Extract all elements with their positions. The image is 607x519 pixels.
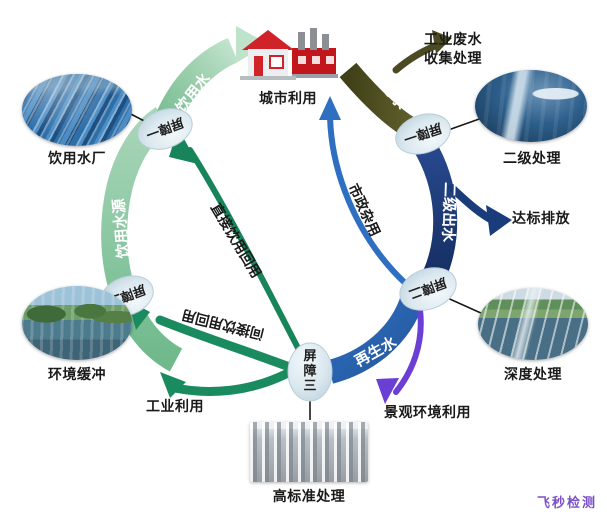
node-barrier-3-bottom[interactable]: 屏 障 三 — [288, 343, 332, 401]
caption-industrial-use: 工业利用 — [128, 398, 222, 415]
caption-landscape-environment-use: 景观环境利用 — [384, 404, 500, 421]
watermark: 飞秒检测 — [537, 492, 597, 511]
caption-city-use: 城市利用 — [238, 90, 338, 107]
photo-drinking-water-plant — [22, 74, 132, 146]
caption-industrial-wastewater-line1: 工业废水 — [424, 30, 534, 49]
photo-advanced-treatment — [478, 288, 588, 360]
caption-drinking-water-plant: 饮用水厂 — [22, 150, 132, 167]
caption-industrial-wastewater-line2: 收集处理 — [424, 49, 534, 68]
factory-chimney-3 — [322, 34, 329, 50]
house-window — [270, 56, 283, 68]
caption-secondary-treatment: 二级处理 — [476, 150, 588, 167]
photo-high-standard-treatment — [250, 422, 368, 482]
caption-advanced-treatment: 深度处理 — [478, 366, 588, 383]
diagram-canvas: 饮用水 饮用水源 直接饮用回用 间接饮用回用 生活污水 二级出水 市政杂用 再生… — [0, 0, 607, 519]
caption-high-standard-treatment: 高标准处理 — [248, 488, 370, 505]
house-roof — [242, 30, 294, 50]
caption-industrial-wastewater: 工业废水 收集处理 — [424, 30, 534, 68]
city-use-icon — [236, 22, 340, 82]
node-barrier-1-right[interactable]: 屏障一 — [390, 107, 455, 160]
svg-text:障: 障 — [303, 363, 316, 378]
caption-environment-buffer: 环境缓冲 — [20, 366, 134, 383]
factory-chimney-1 — [298, 32, 305, 50]
node-barrier-1-left[interactable]: 屏障一 — [132, 102, 198, 157]
node-barrier-2-right[interactable]: 屏障二 — [394, 260, 462, 317]
caption-compliant-discharge: 达标排放 — [512, 210, 604, 227]
photo-secondary-treatment — [475, 70, 587, 142]
house-door — [254, 56, 263, 76]
svg-text:三: 三 — [303, 378, 316, 393]
svg-text:屏: 屏 — [303, 348, 316, 363]
factory-chimney-2 — [310, 28, 317, 50]
photo-environment-buffer — [22, 286, 132, 360]
